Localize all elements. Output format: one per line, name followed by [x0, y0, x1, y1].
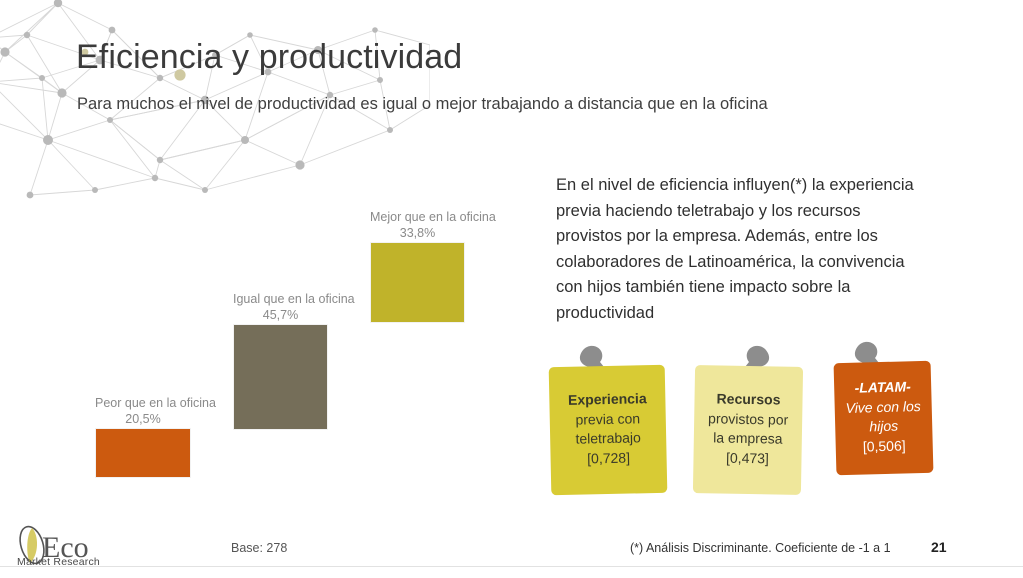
bar-chart: Peor que en la oficina 20,5% Igual que e… [0, 0, 540, 520]
page-number: 21 [931, 539, 947, 555]
discriminant-footnote: (*) Análisis Discriminante. Coeficiente … [630, 541, 891, 555]
bar-label-mejor: Mejor que en la oficina 33,8% [370, 210, 465, 241]
sticky-note-body-recursos: provistos por la empresa [702, 409, 795, 450]
bar-label-peor: Peor que en la oficina 20,5% [95, 396, 191, 427]
bar-category-mejor: Mejor que en la oficina [370, 210, 465, 226]
footer-divider [0, 566, 1023, 567]
sticky-note-value-experiencia: [0,728] [587, 448, 630, 468]
bar-value-mejor: 33,8% [370, 226, 465, 242]
sticky-note-experiencia[interactable]: Experiencia previa con teletrabajo [0,72… [549, 365, 668, 495]
sticky-note-title-experiencia: Experiencia [568, 389, 647, 410]
bar-category-igual: Igual que en la oficina [233, 292, 328, 308]
sticky-note-title-latam: -LATAM- [854, 377, 911, 398]
sticky-note-value-recursos: [0,473] [726, 448, 769, 468]
sticky-note-body-latam: Vive con los hijos [842, 396, 924, 437]
bar-rect-igual [233, 324, 328, 430]
bar-group-igual: Igual que en la oficina 45,7% [233, 292, 328, 430]
bar-rect-mejor [370, 242, 465, 323]
sticky-note-title-recursos: Recursos [716, 389, 780, 410]
sticky-note-recursos[interactable]: Recursos provistos por la empresa [0,473… [693, 365, 803, 495]
bar-label-igual: Igual que en la oficina 45,7% [233, 292, 328, 323]
bar-group-peor: Peor que en la oficina 20,5% [95, 396, 191, 478]
sticky-note-body-experiencia: previa con teletrabajo [558, 408, 659, 449]
bar-category-peor: Peor que en la oficina [95, 396, 191, 412]
bar-value-peor: 20,5% [95, 412, 191, 428]
sticky-note-value-latam: [0,506] [863, 436, 906, 457]
bar-value-igual: 45,7% [233, 308, 328, 324]
slide: Eficiencia y productividad Para muchos e… [0, 0, 1023, 578]
insight-paragraph: En el nivel de eficiencia influyen(*) la… [556, 173, 928, 326]
sticky-note-latam[interactable]: -LATAM- Vive con los hijos [0,506] [834, 361, 934, 476]
base-note: Base: 278 [231, 541, 287, 555]
bar-group-mejor: Mejor que en la oficina 33,8% [370, 210, 465, 323]
bar-rect-peor [95, 428, 191, 478]
